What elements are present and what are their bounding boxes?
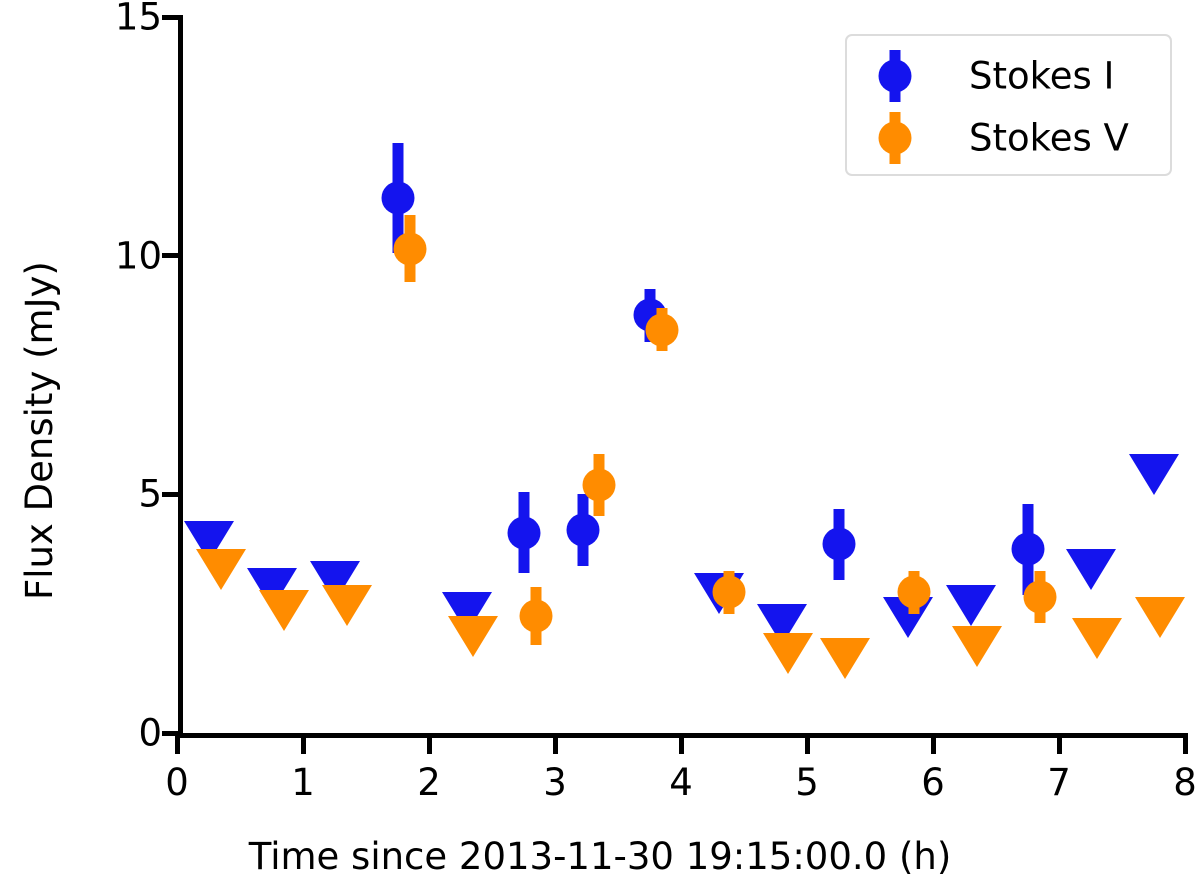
x-tick-label: 5 xyxy=(795,764,819,801)
datapoint-stokes-v xyxy=(712,576,745,609)
x-tick xyxy=(931,733,936,754)
x-tick-label: 6 xyxy=(921,764,945,801)
datapoint-stokes-i xyxy=(566,514,599,547)
datapoint-stokes-v xyxy=(583,468,616,501)
upper-limit-marker-stokes-i xyxy=(946,585,996,626)
y-tick-label: 15 xyxy=(115,0,162,36)
x-tick-label: 7 xyxy=(1047,764,1071,801)
legend-label-stokes-i: Stokes I xyxy=(969,55,1114,98)
flux-density-chart: 051015012345678 Flux Density (mJy) Time … xyxy=(0,0,1200,894)
x-tick xyxy=(1183,733,1188,754)
x-tick xyxy=(301,733,306,754)
datapoint-stokes-v xyxy=(646,313,679,346)
legend: Stokes I Stokes V xyxy=(845,34,1172,176)
x-tick-label: 4 xyxy=(669,764,693,801)
y-axis-label: Flux Density (mJy) xyxy=(18,261,61,600)
x-tick xyxy=(553,733,558,754)
y-tick-label: 5 xyxy=(138,476,162,513)
x-tick xyxy=(805,733,810,754)
datapoint-stokes-v xyxy=(1024,580,1057,613)
x-tick-label: 2 xyxy=(417,764,441,801)
upper-limit-marker-stokes-v xyxy=(1072,618,1122,659)
upper-limit-marker-stokes-i xyxy=(1129,454,1179,495)
datapoint-stokes-i xyxy=(381,182,414,215)
upper-limit-marker-stokes-v xyxy=(196,549,246,590)
datapoint-stokes-i xyxy=(507,516,540,549)
upper-limit-marker-stokes-v xyxy=(763,633,813,674)
x-tick-label: 8 xyxy=(1173,764,1197,801)
x-tick xyxy=(679,733,684,754)
x-tick-label: 3 xyxy=(543,764,567,801)
x-tick xyxy=(427,733,432,754)
x-tick xyxy=(1057,733,1062,754)
legend-label-stokes-v: Stokes V xyxy=(969,117,1129,160)
datapoint-stokes-v xyxy=(394,232,427,265)
datapoint-stokes-i xyxy=(822,528,855,561)
legend-entry-stokes-i: Stokes I xyxy=(847,46,1170,106)
legend-entry-stokes-v: Stokes V xyxy=(847,108,1170,168)
x-tick-label: 0 xyxy=(165,764,189,801)
upper-limit-marker-stokes-i xyxy=(1066,549,1116,590)
upper-limit-marker-stokes-v xyxy=(952,626,1002,667)
upper-limit-marker-stokes-v xyxy=(820,638,870,679)
y-tick-label: 0 xyxy=(138,715,162,752)
datapoint-stokes-v xyxy=(898,576,931,609)
upper-limit-marker-stokes-v xyxy=(448,616,498,657)
x-axis-label: Time since 2013-11-30 19:15:00.0 (h) xyxy=(0,835,1200,878)
datapoint-stokes-v xyxy=(520,600,553,633)
x-tick xyxy=(175,733,180,754)
upper-limit-marker-stokes-v xyxy=(322,585,372,626)
x-tick-label: 1 xyxy=(291,764,315,801)
y-tick-label: 10 xyxy=(115,237,162,274)
upper-limit-marker-stokes-v xyxy=(259,590,309,631)
upper-limit-marker-stokes-v xyxy=(1135,597,1185,638)
datapoint-stokes-i xyxy=(1011,533,1044,566)
